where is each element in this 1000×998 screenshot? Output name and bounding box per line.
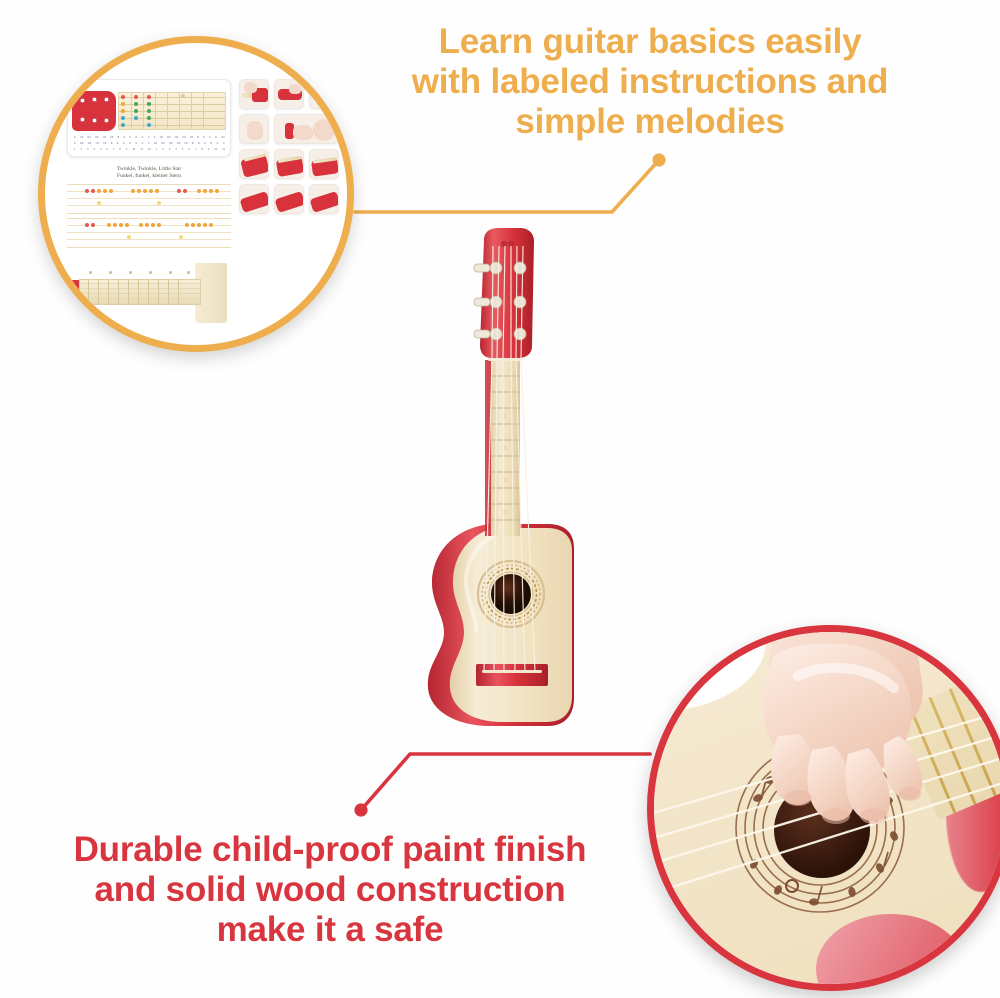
bottom-callout-heading: Durable child-proof paint finish and sol… bbox=[10, 830, 650, 950]
thumbnail-guitar-angle-2 bbox=[274, 149, 304, 179]
guitar-soundhole bbox=[491, 574, 531, 614]
top-callout-leader-line bbox=[340, 145, 680, 230]
hand-strumming-inset bbox=[647, 625, 1000, 991]
thumbnail-guitar-angle-6 bbox=[309, 184, 339, 214]
neck-diagram-fretboard bbox=[79, 279, 201, 305]
thumbnail-guitar-angle-3 bbox=[309, 149, 339, 179]
bottom-callout-line-3: make it a safe bbox=[10, 910, 650, 950]
thumbnail-hand-position bbox=[239, 114, 269, 144]
product-feature-canvas: Learn guitar basics easily with labeled … bbox=[0, 0, 1000, 998]
guitar-saddle bbox=[482, 670, 542, 673]
chart-fretboard-graphic bbox=[118, 92, 226, 130]
hand-strumming-photo bbox=[654, 632, 1000, 984]
top-callout-heading: Learn guitar basics easily with labeled … bbox=[330, 22, 970, 142]
top-leader-dot bbox=[652, 153, 665, 166]
thumbnail-holding-guitar bbox=[274, 79, 304, 109]
guitar-bridge bbox=[476, 664, 548, 686]
bottom-callout-leader-line bbox=[345, 740, 655, 825]
chart-note-row-1: EA#D#G#C#F#BEADGCFA#D#G#C#F#BEADG# bbox=[74, 137, 225, 140]
thumbnail-guitar-angle-1 bbox=[239, 149, 269, 179]
song-title-german: Funkel, funkel, kleiner Stern bbox=[67, 173, 231, 180]
chart-fret-number-row: 1234567891011121234567891011 bbox=[74, 149, 225, 152]
toy-guitar-product-photo bbox=[398, 228, 608, 728]
guitar-body-top bbox=[450, 528, 572, 722]
thumbnail-child-playing bbox=[274, 114, 339, 144]
chart-note-name-table: EA#D#G#C#F#BEADGCFA#D#G#C#F#BEADG# AD#G#… bbox=[74, 133, 225, 155]
photo-grid-row-4 bbox=[239, 184, 339, 214]
child-hand bbox=[738, 625, 958, 896]
neck-diagram-position-markers bbox=[83, 271, 199, 276]
photo-grid-row-1 bbox=[239, 79, 339, 109]
bottom-leader-dot bbox=[354, 803, 367, 816]
thumbnail-guitar-front bbox=[309, 79, 339, 109]
top-callout-line-2: with labeled instructions and bbox=[330, 62, 970, 102]
thumbnail-tuning-headstock bbox=[239, 79, 269, 109]
instruction-sheet: EA#D#G#C#F#BEADGCFA#D#G#C#F#BEADG# AD#G#… bbox=[67, 79, 339, 327]
instruction-sheet-photo-grid bbox=[239, 79, 339, 327]
thumbnail-guitar-angle-5 bbox=[274, 184, 304, 214]
top-callout-line-3: simple melodies bbox=[330, 102, 970, 142]
guitar-headstock bbox=[480, 228, 534, 358]
thumbnail-guitar-angle-4 bbox=[239, 184, 269, 214]
neck-diagram-card bbox=[67, 263, 231, 325]
song-title-english: Twinkle, Twinkle, Little Star bbox=[67, 166, 231, 173]
bottom-callout-line-2: and solid wood construction bbox=[10, 870, 650, 910]
top-callout-line-1: Learn guitar basics easily bbox=[330, 22, 970, 62]
chart-note-row-2: AD#G#C#F#BEADGCFA#D#G#C#F#BEADGC bbox=[74, 143, 225, 146]
song-title: Twinkle, Twinkle, Little Star Funkel, fu… bbox=[67, 164, 231, 180]
photo-grid-row-3 bbox=[239, 149, 339, 179]
photo-grid-row-2 bbox=[239, 114, 339, 144]
song-tablature-card: Twinkle, Twinkle, Little Star Funkel, fu… bbox=[67, 164, 231, 256]
song-staff-line-2 bbox=[67, 218, 231, 248]
bottom-callout-line-1: Durable child-proof paint finish bbox=[10, 830, 650, 870]
instruction-sheet-left-column: EA#D#G#C#F#BEADGCFA#D#G#C#F#BEADG# AD#G#… bbox=[67, 79, 231, 327]
instruction-sheet-inset: EA#D#G#C#F#BEADGCFA#D#G#C#F#BEADG# AD#G#… bbox=[38, 36, 354, 352]
chart-headstock-graphic bbox=[72, 91, 116, 131]
song-staff-line-1 bbox=[67, 184, 231, 214]
fretboard-note-chart-card: EA#D#G#C#F#BEADGCFA#D#G#C#F#BEADG# AD#G#… bbox=[67, 79, 231, 157]
